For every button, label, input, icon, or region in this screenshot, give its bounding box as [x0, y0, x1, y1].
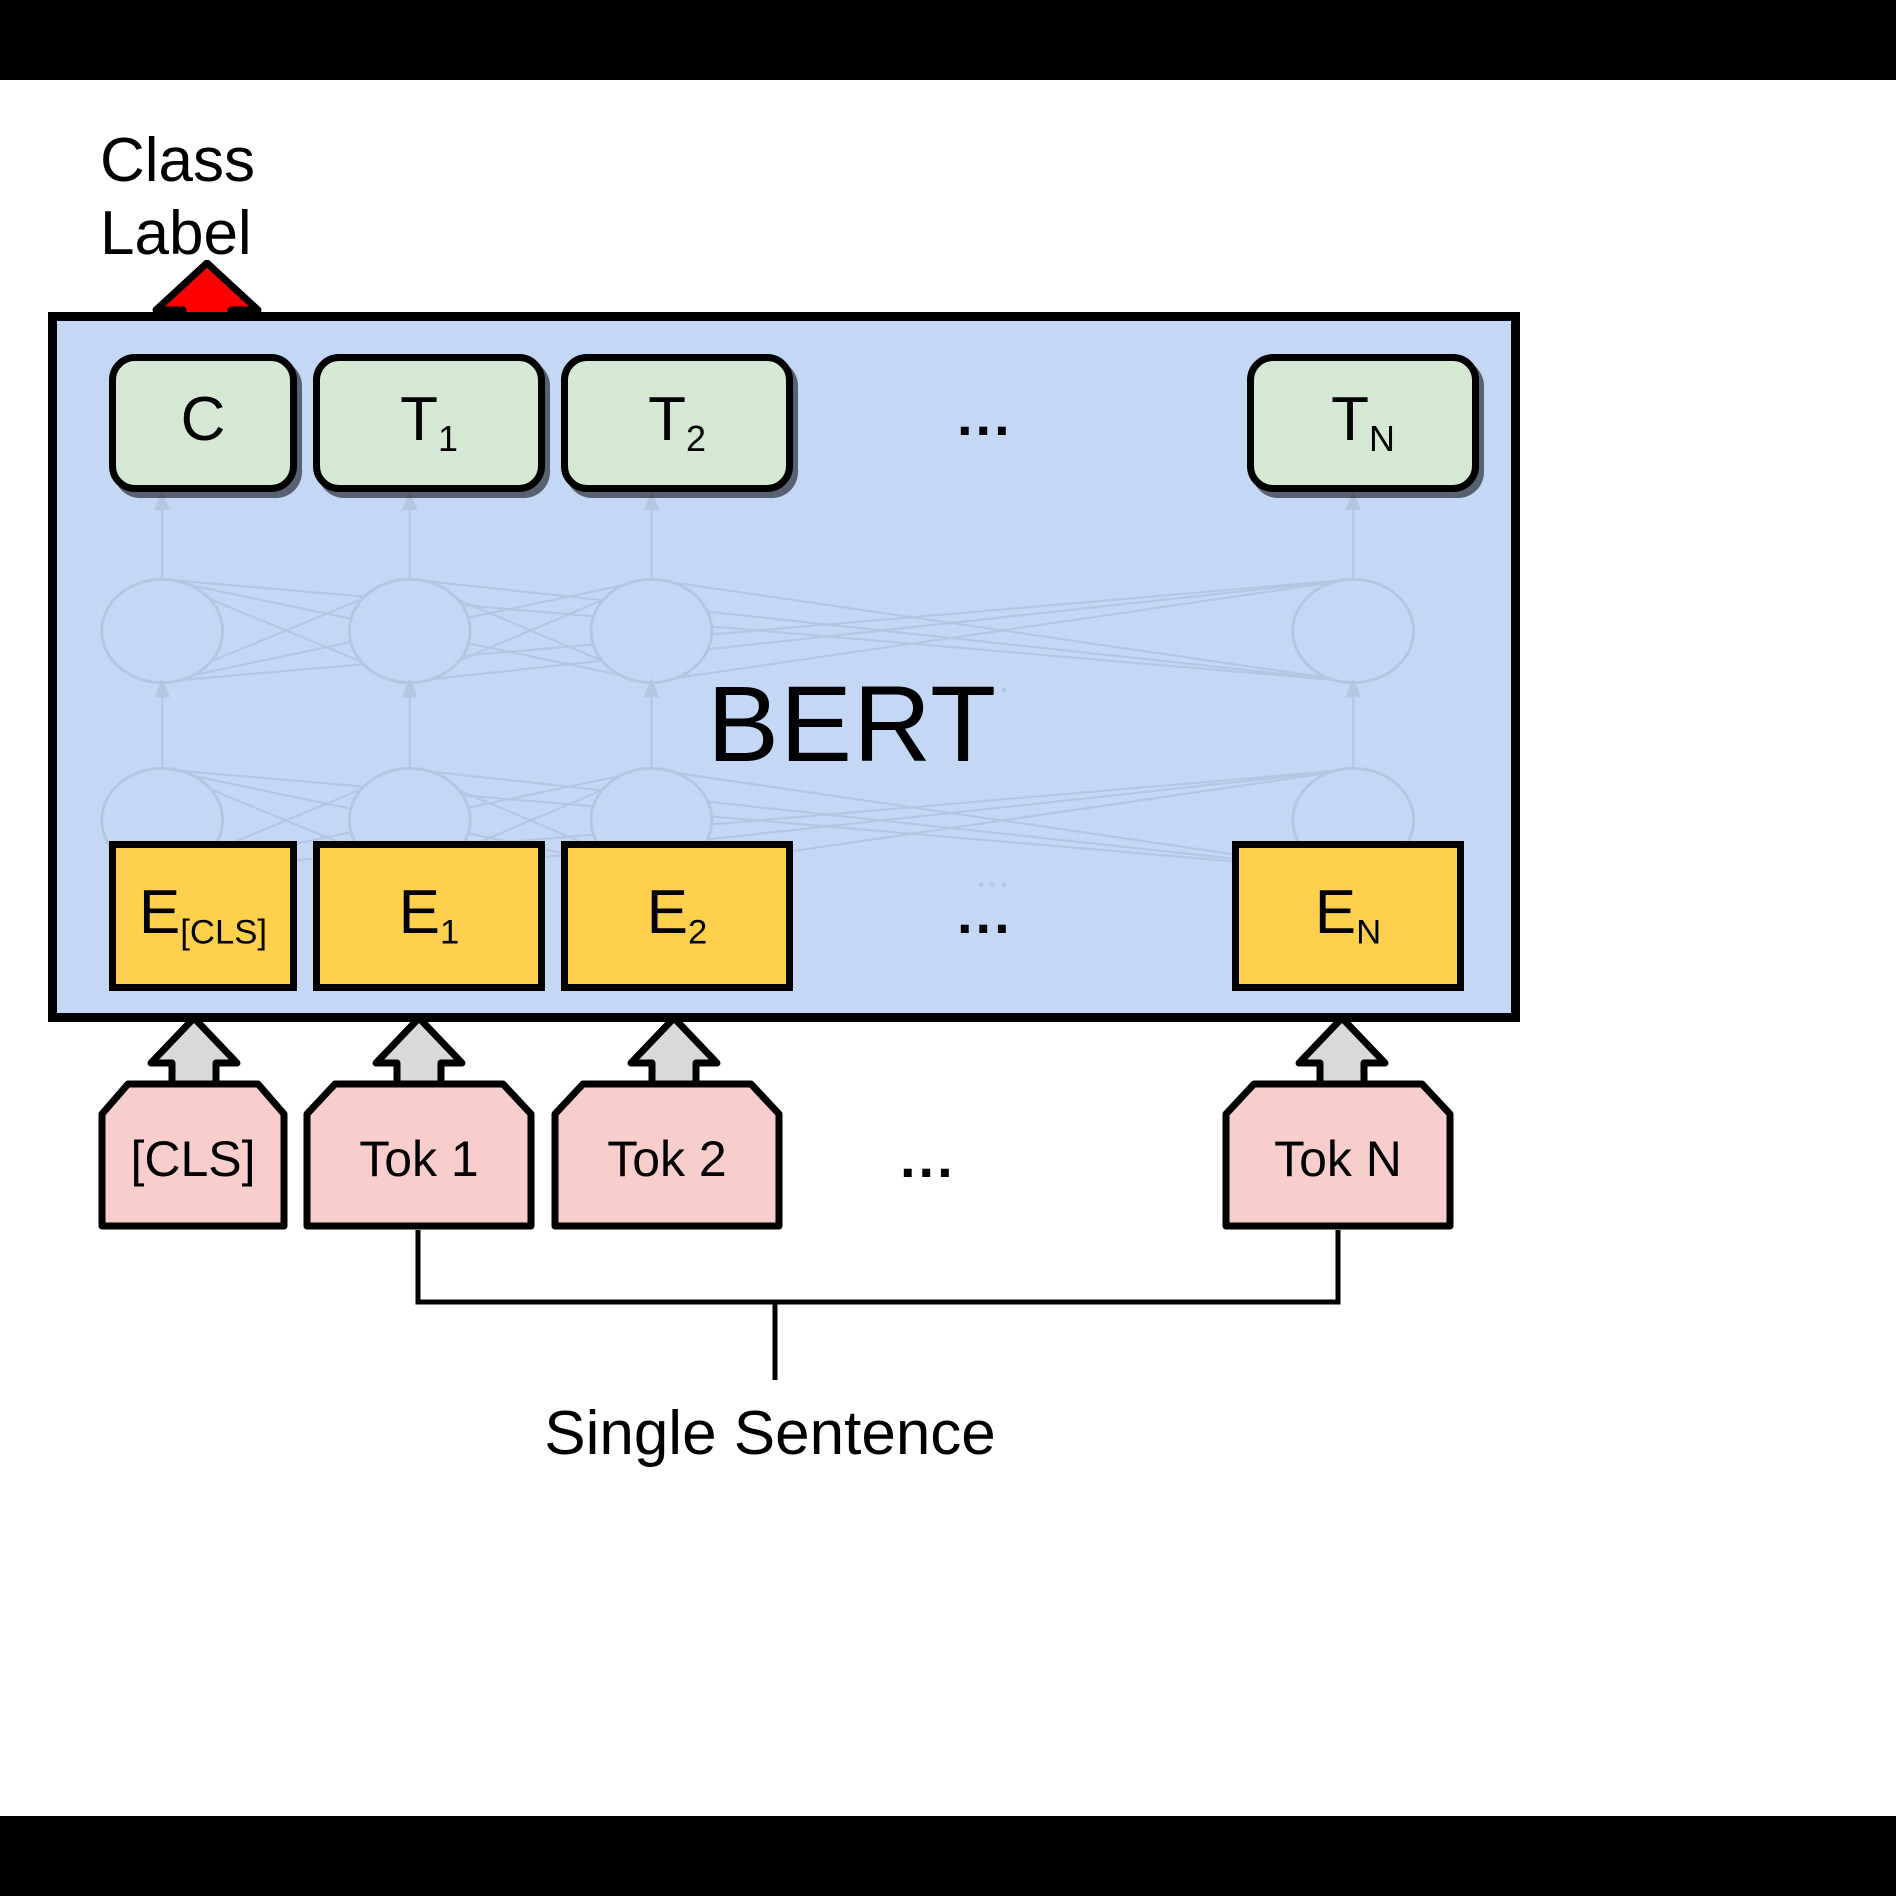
embedding-box-2[interactable]: E2	[561, 841, 793, 991]
bert-model-name: BERT	[707, 661, 997, 786]
diagram-root: Class Label	[0, 0, 1896, 1896]
input-token-box-2[interactable]: Tok 2	[551, 1080, 783, 1230]
embedding-box-cls[interactable]: E[CLS]	[109, 841, 297, 991]
input-row-ellipsis: ...	[900, 1125, 956, 1190]
class-label-text: Class Label	[100, 124, 400, 270]
embedding-label-n: EN	[1315, 882, 1381, 950]
input-token-label-1: Tok 1	[303, 1080, 535, 1230]
embedding-row-ellipsis: ...	[957, 881, 1013, 946]
sentence-label-text: Single Sentence	[0, 1398, 1540, 1469]
embedding-label-2: E2	[647, 882, 708, 950]
embedding-label-cls: E[CLS]	[139, 882, 267, 950]
output-token-label-t2: T2	[648, 389, 706, 457]
output-token-label-tn: TN	[1331, 389, 1395, 457]
output-token-box-t2[interactable]: T2	[561, 354, 793, 492]
diagram-canvas: Class Label	[0, 80, 1896, 1816]
input-token-box-n[interactable]: Tok N	[1222, 1080, 1454, 1230]
output-token-label-c: C	[181, 389, 226, 457]
output-token-box-tn[interactable]: TN	[1247, 354, 1479, 492]
input-token-box-cls[interactable]: [CLS]	[98, 1080, 288, 1230]
output-token-box-t1[interactable]: T1	[313, 354, 545, 492]
input-token-label-2: Tok 2	[551, 1080, 783, 1230]
output-token-box-c[interactable]: C	[109, 354, 297, 492]
output-row-ellipsis: ...	[957, 383, 1013, 448]
embedding-label-1: E1	[399, 882, 460, 950]
input-token-box-1[interactable]: Tok 1	[303, 1080, 535, 1230]
output-token-label-t1: T1	[400, 389, 458, 457]
embedding-box-n[interactable]: EN	[1232, 841, 1464, 991]
bert-encoder-block: ... ... BERT C T1 T2	[48, 312, 1520, 1022]
embedding-box-1[interactable]: E1	[313, 841, 545, 991]
input-token-label-n: Tok N	[1222, 1080, 1454, 1230]
input-token-label-cls: [CLS]	[98, 1080, 288, 1230]
